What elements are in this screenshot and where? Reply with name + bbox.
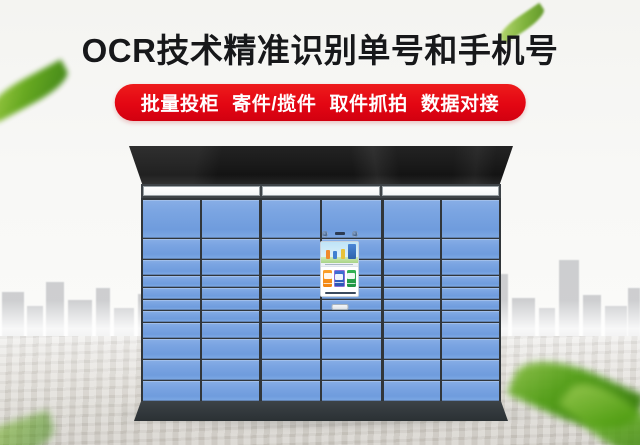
locker-door[interactable] (384, 276, 441, 287)
camera-icon (352, 231, 358, 237)
locker-door[interactable] (442, 323, 499, 338)
camera-icon (322, 231, 328, 237)
locker-door[interactable] (384, 360, 441, 380)
locker-door[interactable] (322, 323, 381, 338)
locker-door[interactable] (442, 381, 499, 401)
locker-door[interactable] (262, 276, 321, 287)
locker-door[interactable] (322, 381, 381, 401)
locker-column (442, 200, 499, 401)
screen-tile-pickup-label (335, 282, 344, 284)
feature-item-3: 取件抓拍 (329, 89, 407, 116)
locker-door[interactable] (262, 323, 321, 338)
locker-door[interactable] (442, 239, 499, 259)
locker-door[interactable] (442, 311, 499, 322)
locker-door[interactable] (322, 339, 381, 359)
page-title: OCR技术精准识别单号和手机号 (0, 24, 640, 72)
cabinet-plinth (134, 401, 508, 421)
header-panel-left (143, 186, 260, 196)
locker-door[interactable] (442, 200, 499, 238)
feature-item-1: 批量投柜 (141, 89, 219, 116)
locker-door[interactable] (384, 288, 441, 299)
locker-door[interactable] (143, 260, 200, 275)
locker-column (143, 200, 200, 401)
locker-door[interactable] (143, 381, 200, 401)
locker-door[interactable] (262, 381, 321, 401)
locker-door[interactable] (202, 311, 259, 322)
locker-door[interactable] (143, 360, 200, 380)
locker-door[interactable] (384, 200, 441, 238)
locker-door[interactable] (143, 339, 200, 359)
screen-tile-more[interactable] (347, 270, 356, 287)
locker-door[interactable] (384, 311, 441, 322)
locker-door[interactable] (384, 339, 441, 359)
locker-door[interactable] (442, 339, 499, 359)
locker-door[interactable] (202, 360, 259, 380)
header-panel-right (382, 186, 499, 196)
screen-tile-send-label (323, 283, 332, 285)
locker-door[interactable] (202, 323, 259, 338)
screen-caption (321, 263, 358, 267)
parcel-figure-icon (341, 249, 345, 259)
screen-tile-more-label (347, 283, 356, 285)
screen-tile-send[interactable] (323, 270, 332, 287)
header-sign-strip (141, 184, 501, 198)
locker-door[interactable] (262, 339, 321, 359)
locker-door[interactable] (442, 300, 499, 311)
locker-door[interactable] (143, 239, 200, 259)
locker-door[interactable] (384, 323, 441, 338)
locker-door[interactable] (143, 288, 200, 299)
locker-door[interactable] (384, 381, 441, 401)
kiosk-sensor-row (316, 229, 363, 238)
locker-door[interactable] (143, 276, 200, 287)
locker-door[interactable] (262, 311, 321, 322)
feature-banner: 批量投柜 寄件/揽件 取件抓拍 数据对接 (115, 84, 526, 121)
locker-door[interactable] (384, 239, 441, 259)
screen-hero-illustration (321, 242, 358, 263)
locker-door[interactable] (202, 239, 259, 259)
canopy-roof (129, 146, 513, 186)
more-icon (347, 273, 355, 279)
locker-door[interactable] (202, 276, 259, 287)
speaker-slot-icon (335, 232, 345, 235)
locker-door[interactable] (442, 360, 499, 380)
locker-door[interactable] (442, 276, 499, 287)
locker-door[interactable] (262, 360, 321, 380)
locker-door[interactable] (384, 300, 441, 311)
customer-figure-icon (333, 251, 337, 259)
send-icon (324, 273, 332, 279)
screen-action-tiles (321, 267, 358, 290)
locker-door[interactable] (202, 260, 259, 275)
locker-door[interactable] (442, 288, 499, 299)
pickup-icon (335, 274, 343, 280)
kiosk-screen[interactable] (320, 241, 359, 297)
locker-door[interactable] (143, 323, 200, 338)
locker-door[interactable] (322, 360, 381, 380)
promo-banner-image: OCR技术精准识别单号和手机号 批量投柜 寄件/揽件 取件抓拍 数据对接 (0, 0, 640, 445)
kiosk-terminal[interactable] (316, 229, 363, 315)
locker-column (202, 200, 259, 401)
locker-illustration-icon (348, 244, 356, 259)
locker-door[interactable] (202, 381, 259, 401)
locker-section-right (384, 200, 500, 401)
locker-door[interactable] (143, 300, 200, 311)
locker-door[interactable] (143, 311, 200, 322)
card-slot-icon[interactable] (331, 304, 348, 310)
header-panel-center (262, 186, 381, 196)
screen-tile-pickup[interactable] (334, 270, 345, 287)
locker-door[interactable] (202, 339, 259, 359)
locker-section-left (143, 200, 259, 401)
locker-door[interactable] (262, 239, 321, 259)
locker-door[interactable] (202, 288, 259, 299)
screen-status-bar (325, 292, 356, 294)
smart-parcel-locker (141, 146, 501, 421)
locker-door[interactable] (262, 288, 321, 299)
locker-door[interactable] (202, 300, 259, 311)
courier-figure-icon (326, 250, 330, 259)
locker-door[interactable] (262, 200, 321, 238)
locker-door[interactable] (384, 260, 441, 275)
locker-door[interactable] (262, 260, 321, 275)
locker-door[interactable] (262, 300, 321, 311)
feature-item-2: 寄件/揽件 (232, 89, 316, 116)
locker-door[interactable] (442, 260, 499, 275)
locker-door[interactable] (143, 200, 200, 238)
feature-item-4: 数据对接 (421, 89, 499, 116)
locker-column (262, 200, 321, 401)
locker-door[interactable] (202, 200, 259, 238)
locker-column (384, 200, 441, 401)
